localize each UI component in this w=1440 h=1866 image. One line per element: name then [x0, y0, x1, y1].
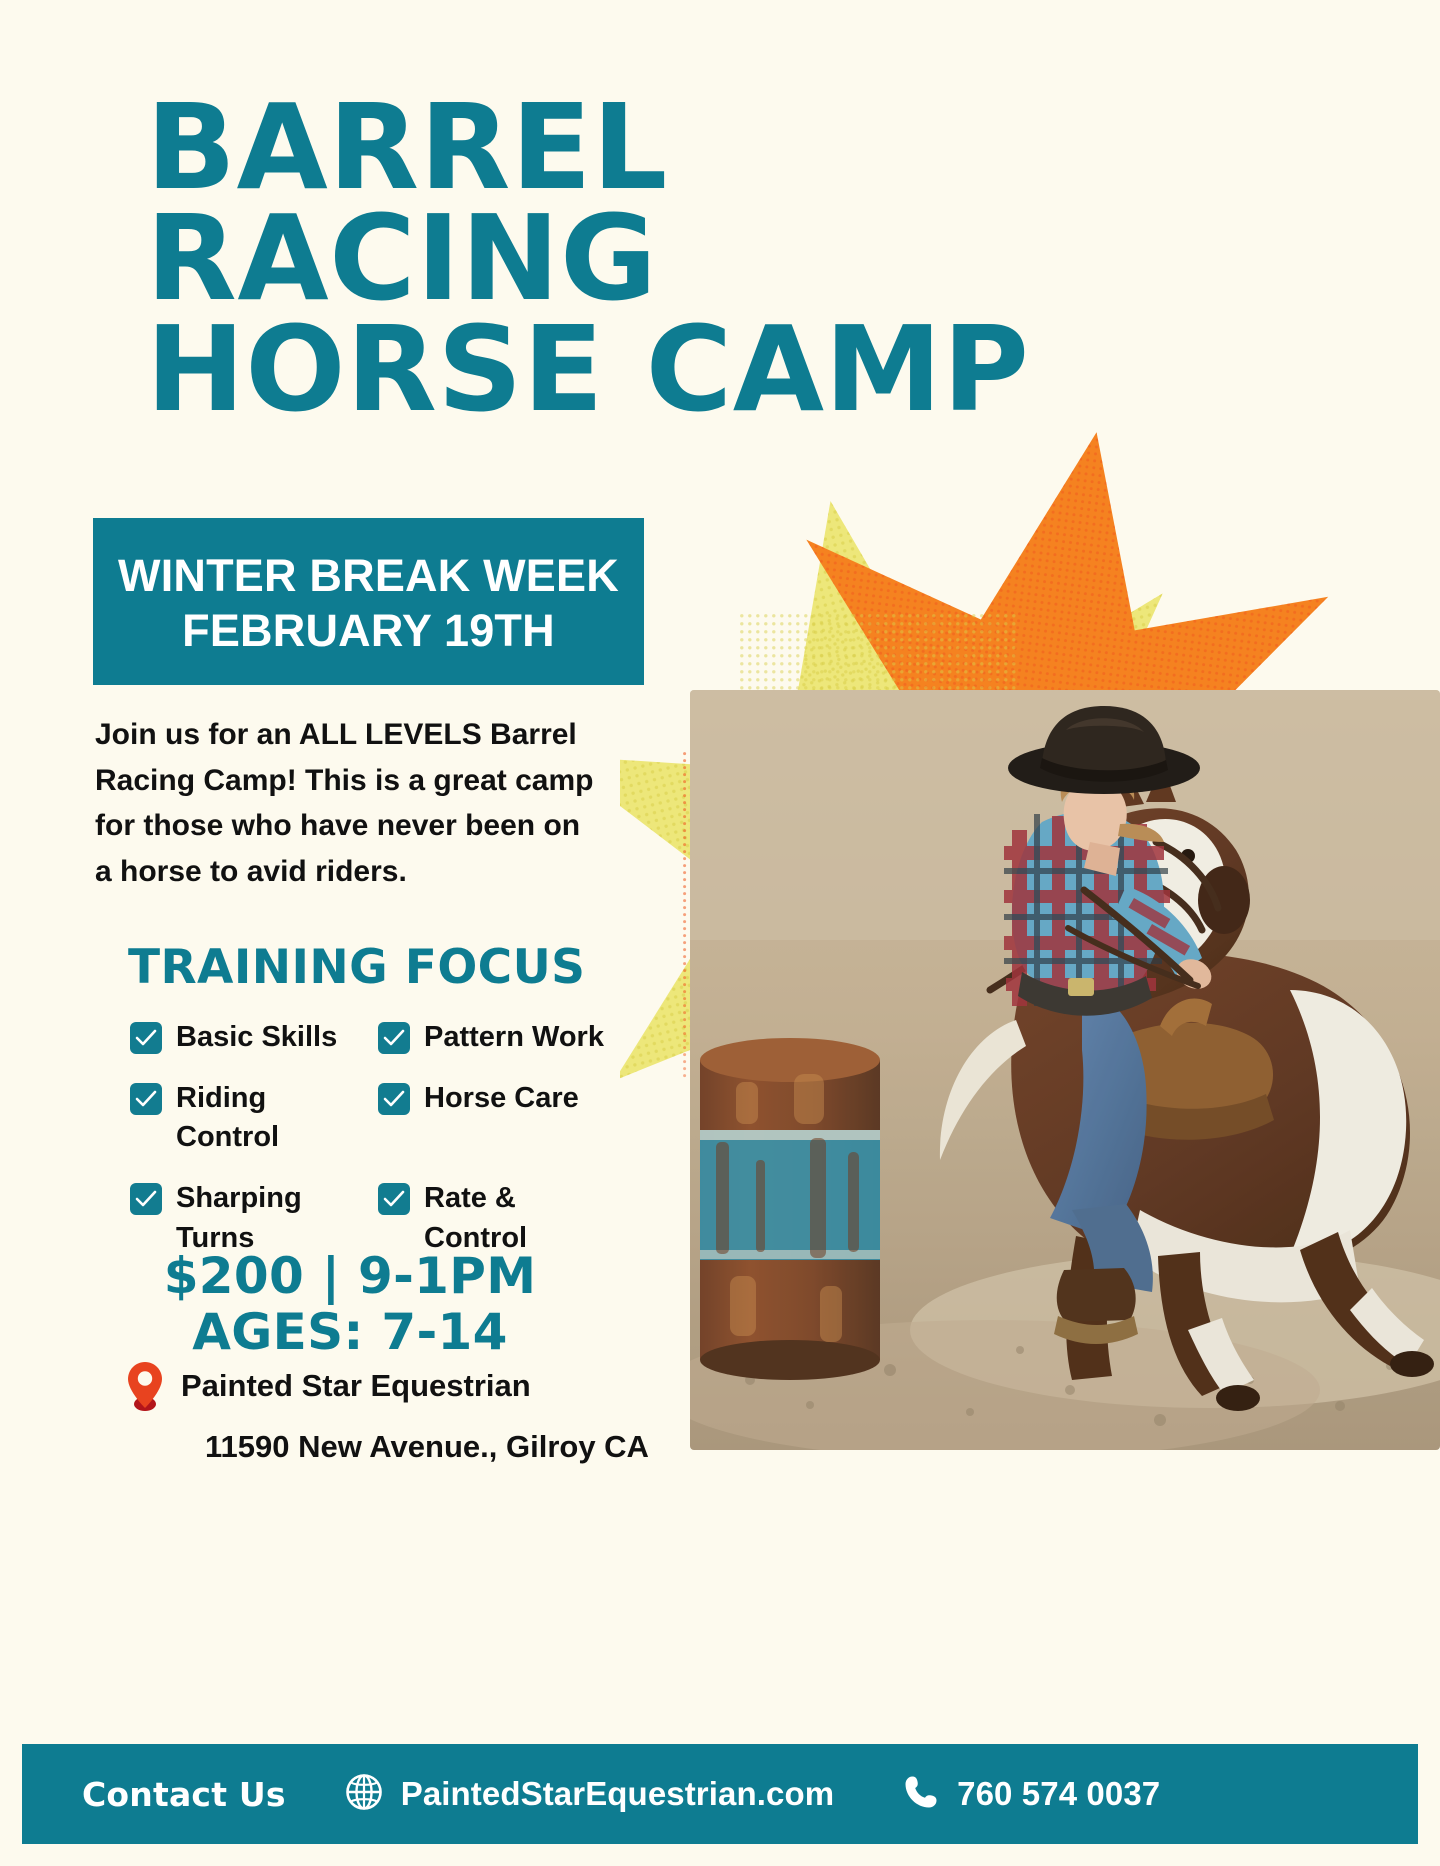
checkbox-checked-icon	[378, 1183, 410, 1215]
contact-us-label: Contact Us	[82, 1775, 286, 1814]
focus-item-label: Basic Skills	[176, 1018, 337, 1057]
barrel-racing-photo	[690, 690, 1440, 1450]
date-badge-line-1: WINTER BREAK WEEK	[118, 552, 619, 601]
focus-item[interactable]: Riding Control	[130, 1079, 368, 1157]
focus-item[interactable]: Sharping Turns	[130, 1179, 368, 1257]
date-badge: WINTER BREAK WEEK FEBRUARY 19TH	[93, 518, 644, 685]
phone-icon	[902, 1773, 940, 1816]
checkbox-checked-icon	[378, 1022, 410, 1054]
focus-item[interactable]: Rate & Control	[378, 1179, 616, 1257]
price-line: $200 | 9-1PM	[95, 1248, 605, 1304]
focus-item-label: Sharping Turns	[176, 1179, 368, 1257]
focus-item-label: Riding Control	[176, 1079, 368, 1157]
focus-item[interactable]: Horse Care	[378, 1079, 616, 1157]
date-badge-line-2: FEBRUARY 19TH	[182, 607, 555, 656]
venue-address: 11590 New Avenue., Gilroy CA	[205, 1429, 649, 1464]
website-url[interactable]: PaintedStarEquestrian.com	[401, 1775, 834, 1813]
intro-paragraph: Join us for an ALL LEVELS Barrel Racing …	[95, 712, 595, 894]
venue-name: Painted Star Equestrian	[181, 1367, 531, 1404]
photo-illustration	[690, 690, 1440, 1450]
focus-item-label: Horse Care	[424, 1079, 579, 1118]
training-focus-heading: TRAINING FOCUS	[128, 940, 585, 995]
phone-contact[interactable]: 760 574 0037	[902, 1773, 1160, 1816]
focus-item[interactable]: Pattern Work	[378, 1018, 616, 1057]
checkbox-checked-icon	[378, 1083, 410, 1115]
headline-line-1: BARREL	[146, 92, 1106, 203]
globe-icon	[344, 1772, 384, 1817]
location-block: Painted Star Equestrian 11590 New Avenue…	[125, 1360, 745, 1465]
address-row: 11590 New Avenue., Gilroy CA	[125, 1428, 745, 1465]
focus-item-label: Rate & Control	[424, 1179, 616, 1257]
checkbox-checked-icon	[130, 1022, 162, 1054]
headline-line-2: RACING	[146, 203, 1106, 314]
contact-footer-bar: Contact Us PaintedStarEquestrian.com 760…	[22, 1744, 1418, 1844]
focus-item-label: Pattern Work	[424, 1018, 604, 1057]
price-and-ages: $200 | 9-1PM AGES: 7-14	[95, 1248, 605, 1360]
training-focus-list: Basic Skills Pattern Work Riding Control…	[130, 1018, 620, 1258]
headline-line-3: HORSE CAMP	[146, 314, 1106, 425]
location-pin-icon	[125, 1360, 165, 1412]
venue-row: Painted Star Equestrian	[125, 1360, 745, 1412]
checkbox-checked-icon	[130, 1183, 162, 1215]
focus-item[interactable]: Basic Skills	[130, 1018, 368, 1057]
page-title: BARREL RACING HORSE CAMP	[146, 92, 1106, 425]
ages-line: AGES: 7-14	[95, 1304, 605, 1360]
phone-number[interactable]: 760 574 0037	[957, 1775, 1160, 1813]
checkbox-checked-icon	[130, 1083, 162, 1115]
website-contact[interactable]: PaintedStarEquestrian.com	[344, 1772, 834, 1817]
